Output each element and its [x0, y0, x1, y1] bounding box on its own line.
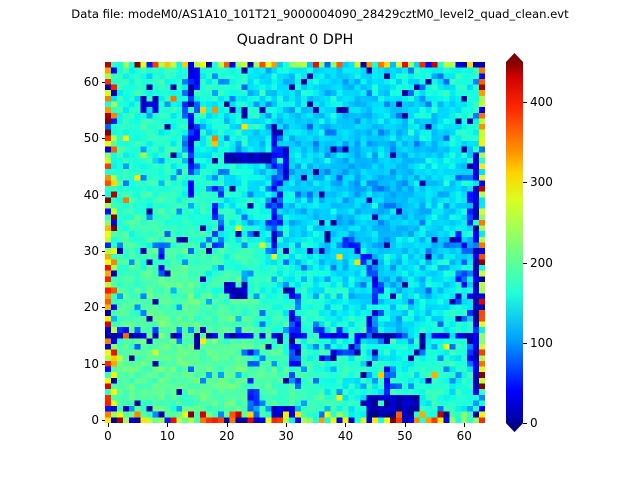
y-tick-mark	[102, 82, 106, 83]
colorbar-tick-label: 0	[530, 416, 538, 430]
y-tick-label: 60	[63, 75, 99, 89]
x-tick-label: 60	[457, 429, 472, 443]
figure-canvas: Data file: modeM0/AS1A10_101T21_90000040…	[0, 0, 640, 480]
colorbar-tick-mark	[523, 182, 527, 183]
x-tick-mark	[464, 423, 465, 427]
y-tick-mark	[102, 307, 106, 308]
colorbar-tick-label: 400	[530, 95, 553, 109]
y-tick-label: 10	[63, 357, 99, 371]
colorbar-tick-mark	[523, 102, 527, 103]
x-tick-mark	[108, 423, 109, 427]
y-tick-mark	[102, 364, 106, 365]
x-tick-label: 50	[397, 429, 412, 443]
x-tick-label: 30	[278, 429, 293, 443]
y-tick-mark	[102, 420, 106, 421]
x-tick-mark	[286, 423, 287, 427]
x-tick-mark	[345, 423, 346, 427]
colorbar[interactable]	[506, 62, 523, 423]
colorbar-tick-mark	[523, 423, 527, 424]
colorbar-gradient	[497, 53, 532, 432]
colorbar-tick-label: 100	[530, 336, 553, 350]
x-tick-label: 0	[104, 429, 112, 443]
heatmap-axes[interactable]	[105, 62, 485, 423]
x-tick-mark	[227, 423, 228, 427]
x-tick-label: 10	[160, 429, 175, 443]
y-tick-mark	[102, 138, 106, 139]
colorbar-tick-label: 300	[530, 175, 553, 189]
y-tick-mark	[102, 251, 106, 252]
detector-heatmap-image[interactable]	[105, 62, 485, 423]
data-file-caption: Data file: modeM0/AS1A10_101T21_90000040…	[0, 7, 640, 21]
x-tick-label: 40	[338, 429, 353, 443]
x-tick-label: 20	[219, 429, 234, 443]
x-tick-mark	[405, 423, 406, 427]
colorbar-tick-label: 200	[530, 256, 553, 270]
y-tick-label: 0	[63, 413, 99, 427]
y-tick-label: 40	[63, 188, 99, 202]
y-tick-label: 50	[63, 131, 99, 145]
y-tick-mark	[102, 195, 106, 196]
plot-title: Quadrant 0 DPH	[105, 31, 485, 49]
colorbar-tick-mark	[523, 263, 527, 264]
colorbar-tick-mark	[523, 343, 527, 344]
y-tick-label: 20	[63, 300, 99, 314]
y-tick-label: 30	[63, 244, 99, 258]
x-tick-mark	[167, 423, 168, 427]
